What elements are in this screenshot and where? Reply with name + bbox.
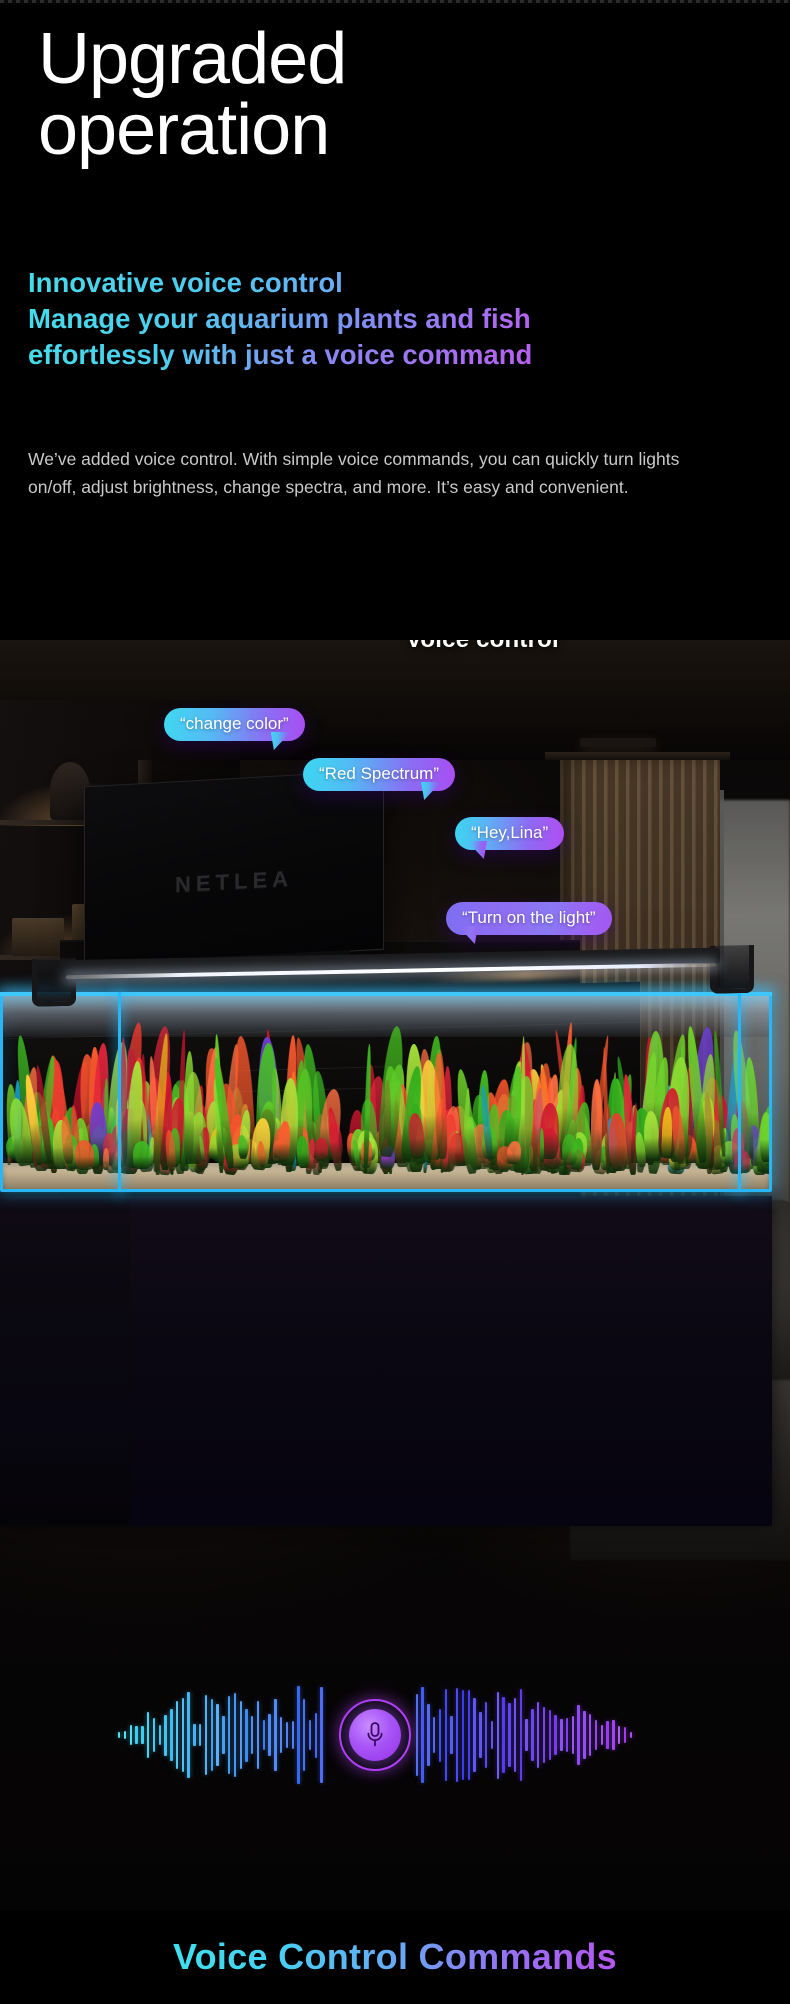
top-divider — [0, 0, 790, 3]
aquatic-plant — [733, 1150, 750, 1173]
waveform-bar — [497, 1692, 499, 1779]
waveform-bar — [216, 1704, 218, 1766]
waveform-bar — [147, 1712, 149, 1758]
aquarium-tank — [0, 992, 772, 1198]
curtain-rod — [545, 752, 730, 760]
waveform-bar — [315, 1713, 317, 1758]
waveform-bar — [205, 1695, 207, 1775]
waveform-bar — [566, 1718, 568, 1751]
waveform-bar — [606, 1721, 608, 1750]
waveform-bar — [182, 1698, 184, 1773]
waveform-bar — [320, 1687, 322, 1783]
page-title: Upgraded operation — [38, 24, 346, 165]
waveform-bar — [462, 1690, 464, 1780]
waveform-bar — [456, 1688, 458, 1783]
room-scene: NETLEA Turn lights on/off, adjust bright… — [0, 640, 790, 1910]
aquarium-corner-edge — [118, 992, 121, 1192]
waveform-bar — [222, 1716, 224, 1753]
aquarium-stand — [0, 1196, 772, 1526]
waveform-bar — [450, 1716, 452, 1755]
mic-disc — [349, 1709, 401, 1761]
scene-heading-line-3: Voice control — [406, 640, 559, 654]
waveform-bar — [543, 1707, 545, 1763]
waveform-bar — [176, 1701, 178, 1769]
waveform-bar — [502, 1697, 504, 1773]
waveform-bar — [187, 1692, 189, 1778]
waveform-bar — [130, 1725, 132, 1744]
waveform-bar — [303, 1699, 305, 1771]
waveform-bar — [514, 1698, 516, 1772]
waveform-bar — [199, 1724, 201, 1747]
waveform-bar — [135, 1726, 137, 1743]
speech-bubble-turn-on-the-light[interactable]: “Turn on the light” — [446, 902, 612, 935]
subtitle-group: Innovative voice control Manage your aqu… — [28, 265, 532, 373]
waveform-bar — [479, 1712, 481, 1758]
waveform-bar — [421, 1687, 423, 1783]
waveform-bar — [286, 1722, 288, 1748]
hero-body-text: We’ve added voice control. With simple v… — [28, 445, 728, 502]
waveform-bar — [280, 1717, 282, 1753]
waveform-bar — [245, 1709, 247, 1762]
waveform-bar — [124, 1731, 126, 1740]
waveform-bar — [630, 1732, 632, 1738]
waveform-bar — [531, 1709, 533, 1761]
subtitle-line-2: Manage your aquarium plants and fish — [28, 301, 532, 337]
waveform-bar — [624, 1727, 626, 1742]
waveform-bar — [416, 1694, 418, 1776]
waveform-bar — [309, 1720, 311, 1750]
speech-bubble-red-spectrum[interactable]: “Red Spectrum” — [303, 758, 455, 791]
waveform-bar — [268, 1714, 270, 1756]
shelf-decor-object — [12, 918, 64, 956]
waveform-bar — [583, 1711, 585, 1759]
ceiling-light-slot — [580, 738, 656, 747]
waveform-bar — [520, 1689, 522, 1781]
waveform-bar — [577, 1705, 579, 1765]
hero-section: Upgraded operation Innovative voice cont… — [0, 0, 790, 640]
waveform-bar — [473, 1698, 475, 1772]
waveform-bar — [118, 1732, 120, 1738]
speech-bubble-hey-lina[interactable]: “Hey,Lina” — [455, 817, 564, 850]
mic-ring — [339, 1699, 411, 1771]
waveform-bar — [141, 1726, 143, 1744]
microphone-icon — [365, 1721, 385, 1749]
subtitle-line-3: effortlessly with just a voice command — [28, 337, 532, 373]
waveform-bar — [297, 1686, 299, 1785]
waveform-bar — [525, 1719, 527, 1750]
waveform-bar — [193, 1724, 195, 1747]
waveform-bar — [549, 1710, 551, 1761]
aquatic-plant — [132, 1141, 151, 1169]
waveform-bar — [170, 1709, 172, 1760]
waveform-bar — [595, 1720, 597, 1751]
waveform-bar — [439, 1709, 441, 1762]
waveform-bar — [560, 1719, 562, 1752]
subtitle-line-1: Innovative voice control — [28, 265, 532, 301]
aquatic-plant — [183, 1051, 194, 1164]
waveform-bar — [274, 1699, 276, 1772]
waveform-bar — [257, 1701, 259, 1769]
footer-title: Voice Control Commands — [173, 1936, 617, 1978]
aquatic-plant — [643, 1111, 659, 1160]
waveform-bar — [240, 1701, 242, 1769]
television: NETLEA — [84, 770, 384, 967]
waveform-bar — [211, 1699, 213, 1772]
aquatic-plant — [760, 1112, 772, 1162]
waveform-bar — [228, 1696, 230, 1773]
waveform-bar — [164, 1715, 166, 1756]
waveform-bar — [468, 1690, 470, 1780]
waveform-bar — [554, 1715, 556, 1755]
waveform-bar — [251, 1716, 253, 1755]
promo-page: Upgraded operation Innovative voice cont… — [0, 0, 790, 2004]
footer-section: Voice Control Commands — [0, 1910, 790, 2004]
waveform-bar — [618, 1726, 620, 1745]
waveform-bar — [612, 1720, 614, 1749]
waveform-bar — [427, 1704, 429, 1766]
waveform-bar — [234, 1693, 236, 1777]
aquarium-corner-edge — [738, 992, 741, 1192]
waveform-bar — [572, 1716, 574, 1753]
aquarium-stand-face — [130, 1196, 772, 1526]
waveform-bar — [508, 1703, 510, 1768]
aquarium-glass — [0, 992, 772, 1192]
waveform-bar — [292, 1721, 294, 1748]
waveform-bar — [433, 1717, 435, 1752]
waveform-bar — [445, 1689, 447, 1781]
aquatic-plant — [562, 1134, 577, 1165]
mic-button[interactable] — [339, 1699, 411, 1771]
netlea-logo: NETLEA — [175, 866, 293, 899]
waveform-bar — [159, 1725, 161, 1745]
waveform-bar — [537, 1702, 539, 1769]
waveform-bar — [263, 1720, 265, 1750]
voice-waveform — [110, 1680, 640, 1790]
aquatic-plant — [591, 1079, 603, 1170]
waveform-bar — [485, 1702, 487, 1768]
waveform-bar — [491, 1721, 493, 1750]
waveform-bar — [589, 1714, 591, 1756]
waveform-bar — [601, 1725, 603, 1745]
waveform-bar — [153, 1718, 155, 1752]
aquatic-plant — [103, 1148, 109, 1170]
speech-bubble-change-color[interactable]: “change color” — [164, 708, 305, 741]
